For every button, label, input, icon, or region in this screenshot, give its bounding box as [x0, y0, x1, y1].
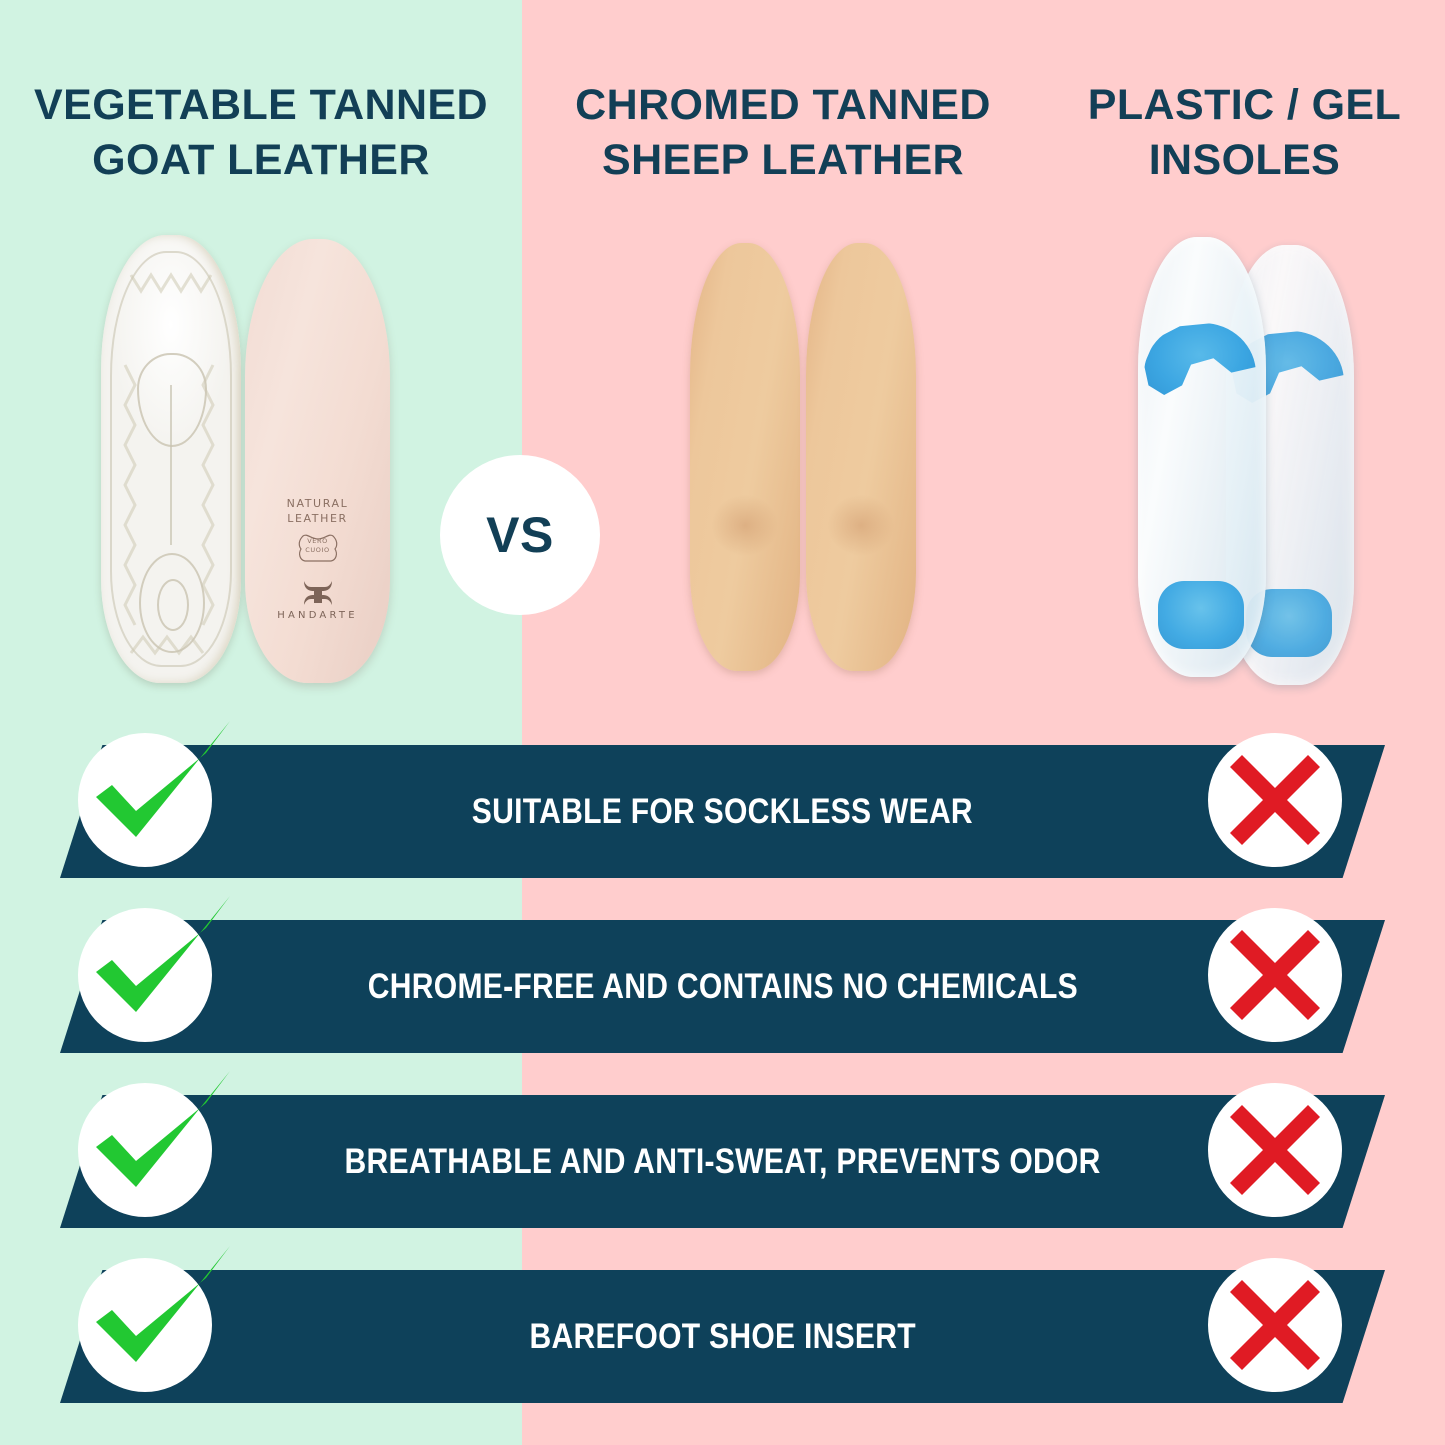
insole-gel-front: [1138, 237, 1266, 677]
check-icon: [78, 719, 238, 869]
insole-sheep-leather-right: [806, 243, 916, 671]
column-title: VEGETABLE TANNED GOAT LEATHER: [34, 78, 488, 187]
product-image-vegetable-tanned-goat-leather: NATURAL LEATHER VERO CUOIO: [95, 225, 395, 695]
gel-heel-pad: [1158, 581, 1244, 649]
product-image-chromed-tanned-sheep-leather: [690, 225, 925, 695]
feature-banner: CHROME-FREE AND CONTAINS NO CHEMICALS: [60, 920, 1385, 1053]
feature-label: CHROME-FREE AND CONTAINS NO CHEMICALS: [367, 967, 1077, 1007]
feature-label: BAREFOOT SHOE INSERT: [529, 1317, 915, 1357]
handarte-h-logo-icon: [301, 578, 335, 608]
insole-goat-leather-topside: NATURAL LEATHER VERO CUOIO: [245, 239, 390, 683]
column-headings: VEGETABLE TANNED GOAT LEATHER CHROMED TA…: [0, 0, 1445, 215]
column-title: PLASTIC / GEL INSOLES: [1088, 78, 1401, 187]
brand-name-handarte: HANDARTE: [245, 610, 390, 621]
insole-goat-leather-underside: [101, 235, 241, 683]
vs-badge: VS: [440, 455, 600, 615]
cross-icon: [1228, 928, 1322, 1022]
heel-cup-outline: [139, 553, 205, 653]
feature-row: CHROME-FREE AND CONTAINS NO CHEMICALS: [0, 900, 1445, 1075]
branding-line-natural: NATURAL: [245, 497, 390, 512]
feature-row: SUITABLE FOR SOCKLESS WEAR: [0, 725, 1445, 900]
column-heading-plastic-gel-insoles: PLASTIC / GEL INSOLES: [1044, 0, 1445, 215]
gel-forefoot-pad: [1144, 323, 1256, 403]
feature-label: BREATHABLE AND ANTI-SWEAT, PREVENTS ODOR: [344, 1142, 1100, 1182]
feature-row: BAREFOOT SHOE INSERT: [0, 1250, 1445, 1425]
product-image-plastic-gel-insoles: [1130, 225, 1385, 695]
vs-label: VS: [486, 506, 554, 564]
check-icon: [78, 894, 238, 1044]
feature-banner: BREATHABLE AND ANTI-SWEAT, PREVENTS ODOR: [60, 1095, 1385, 1228]
leather-branding: NATURAL LEATHER VERO CUOIO: [245, 497, 390, 621]
product-images: NATURAL LEATHER VERO CUOIO: [0, 225, 1445, 695]
branding-line-leather: LEATHER: [245, 512, 390, 527]
check-icon: [78, 1244, 238, 1394]
feature-banner: SUITABLE FOR SOCKLESS WEAR: [60, 745, 1385, 878]
comparison-infographic: VEGETABLE TANNED GOAT LEATHER CHROMED TA…: [0, 0, 1445, 1445]
insole-sheep-leather-left: [690, 243, 800, 671]
hide-badge-text: VERO CUOIO: [297, 537, 339, 556]
feature-rows: SUITABLE FOR SOCKLESS WEAR CHROME-FREE A…: [0, 725, 1445, 1425]
leather-hide-badge-icon: VERO CUOIO: [297, 531, 339, 564]
feature-banner: BAREFOOT SHOE INSERT: [60, 1270, 1385, 1403]
check-icon: [78, 1069, 238, 1219]
cross-icon: [1228, 753, 1322, 847]
column-heading-vegetable-tanned-goat-leather: VEGETABLE TANNED GOAT LEATHER: [0, 0, 522, 215]
column-title: CHROMED TANNED SHEEP LEATHER: [575, 78, 991, 187]
feature-label: SUITABLE FOR SOCKLESS WEAR: [472, 792, 973, 832]
center-seam-line: [170, 385, 172, 545]
cross-icon: [1228, 1278, 1322, 1372]
feature-row: BREATHABLE AND ANTI-SWEAT, PREVENTS ODOR: [0, 1075, 1445, 1250]
hide-badge-line-cuoio: CUOIO: [297, 546, 339, 555]
cross-icon: [1228, 1103, 1322, 1197]
hide-badge-line-vero: VERO: [297, 537, 339, 546]
column-heading-chromed-tanned-sheep-leather: CHROMED TANNED SHEEP LEATHER: [522, 0, 1044, 215]
